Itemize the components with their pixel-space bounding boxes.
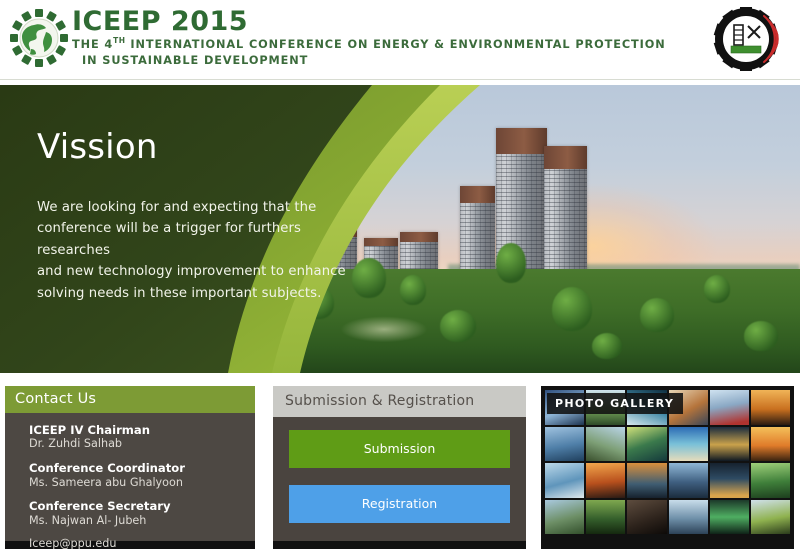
contact-role: Conference Secretary xyxy=(29,499,245,513)
thumb-rafting[interactable] xyxy=(545,427,584,462)
thumb-bridge-dark[interactable] xyxy=(627,500,666,535)
thumb-ice-blue[interactable] xyxy=(545,463,584,498)
thumb-opera-house[interactable] xyxy=(627,463,666,498)
contact-role: ICEEP IV Chairman xyxy=(29,423,245,437)
thumb-desert-dusk[interactable] xyxy=(586,463,625,498)
thumb-snowboarder[interactable] xyxy=(710,390,749,425)
thumb-night-moon[interactable] xyxy=(710,427,749,462)
thumb-aurora[interactable] xyxy=(710,500,749,535)
header-inner: ICEEP 2015 THE 4TH INTERNATIONAL CONFERE… xyxy=(0,0,800,79)
thumb-sports-car[interactable] xyxy=(751,500,790,535)
contact-panel-header: Contact Us xyxy=(5,386,255,413)
submission-panel-footer xyxy=(273,541,526,549)
thumb-forest-path[interactable] xyxy=(586,500,625,535)
bottom-panels-row: Contact Us ICEEP IV Chairman Dr. Zuhdi S… xyxy=(0,386,800,549)
contact-entry: Conference Secretary Ms. Najwan Al- Jube… xyxy=(29,499,245,528)
conference-title: ICEEP 2015 xyxy=(72,8,672,36)
hero-text-block: Vission We are looking for and expecting… xyxy=(37,127,347,304)
thumb-skyline-day[interactable] xyxy=(669,463,708,498)
header-title-block: ICEEP 2015 THE 4TH INTERNATIONAL CONFERE… xyxy=(72,8,672,70)
hero-paragraph-line: solving needs in these important subject… xyxy=(37,283,347,304)
conference-subtitle-line1: THE 4TH INTERNATIONAL CONFERENCE ON ENER… xyxy=(72,36,672,53)
thumb-road-curve[interactable] xyxy=(545,500,584,535)
submission-registration-panel: Submission & Registration Submission Reg… xyxy=(273,386,526,549)
contact-entry: ICEEP IV Chairman Dr. Zuhdi Salhab xyxy=(29,423,245,452)
registration-button[interactable]: Registration xyxy=(289,485,510,523)
contact-panel-body: ICEEP IV Chairman Dr. Zuhdi Salhab Confe… xyxy=(5,413,255,541)
page-root: ICEEP 2015 THE 4TH INTERNATIONAL CONFERE… xyxy=(0,0,800,549)
subtitle-prefix: THE 4 xyxy=(72,38,113,51)
contact-role: Conference Coordinator xyxy=(29,461,245,475)
conference-subtitle-line2: IN SUSTAINABLE DEVELOPMENT xyxy=(72,53,672,69)
subtitle-rest: INTERNATIONAL CONFERENCE ON ENERGY & ENV… xyxy=(126,38,666,51)
hero-heading: Vission xyxy=(37,127,347,167)
ordinal-suffix: TH xyxy=(113,36,125,45)
submission-button[interactable]: Submission xyxy=(289,430,510,468)
iceep-globe-logo-icon xyxy=(8,7,70,71)
submission-panel-header: Submission & Registration xyxy=(273,386,526,417)
submission-panel-body: Submission Registration xyxy=(273,417,526,541)
contact-panel: Contact Us ICEEP IV Chairman Dr. Zuhdi S… xyxy=(5,386,255,549)
thumb-beach-cove[interactable] xyxy=(669,427,708,462)
hero-paragraph-line: We are looking for and expecting that th… xyxy=(37,197,347,218)
photo-gallery-label: PHOTO GALLERY xyxy=(547,393,683,414)
university-logo-icon xyxy=(706,6,792,72)
thumb-park-green[interactable] xyxy=(751,463,790,498)
hero-paragraph-line: and new technology improvement to enhanc… xyxy=(37,261,347,282)
contact-person: Ms. Najwan Al- Jubeh xyxy=(29,514,245,529)
contact-person: Ms. Sameera abu Ghalyoon xyxy=(29,476,245,491)
gallery-panel-footer xyxy=(541,538,794,549)
thumb-peacock[interactable] xyxy=(627,427,666,462)
hero-paragraph: We are looking for and expecting that th… xyxy=(37,197,347,304)
thumb-sunset-swing[interactable] xyxy=(751,390,790,425)
thumb-alps[interactable] xyxy=(669,500,708,535)
hero-paragraph-line: conference will be a trigger for further… xyxy=(37,218,347,261)
site-header: ICEEP 2015 THE 4TH INTERNATIONAL CONFERE… xyxy=(0,0,800,80)
photo-gallery-frame[interactable]: PHOTO GALLERY xyxy=(541,386,794,538)
thumb-skyline-night[interactable] xyxy=(710,463,749,498)
photo-gallery-panel[interactable]: PHOTO GALLERY xyxy=(541,386,794,549)
hero-banner: Vission We are looking for and expecting… xyxy=(0,85,800,373)
contact-entry: Conference Coordinator Ms. Sameera abu G… xyxy=(29,461,245,490)
thumb-palm-sunset[interactable] xyxy=(751,427,790,462)
thumb-climber[interactable] xyxy=(586,427,625,462)
contact-person: Dr. Zuhdi Salhab xyxy=(29,437,245,452)
